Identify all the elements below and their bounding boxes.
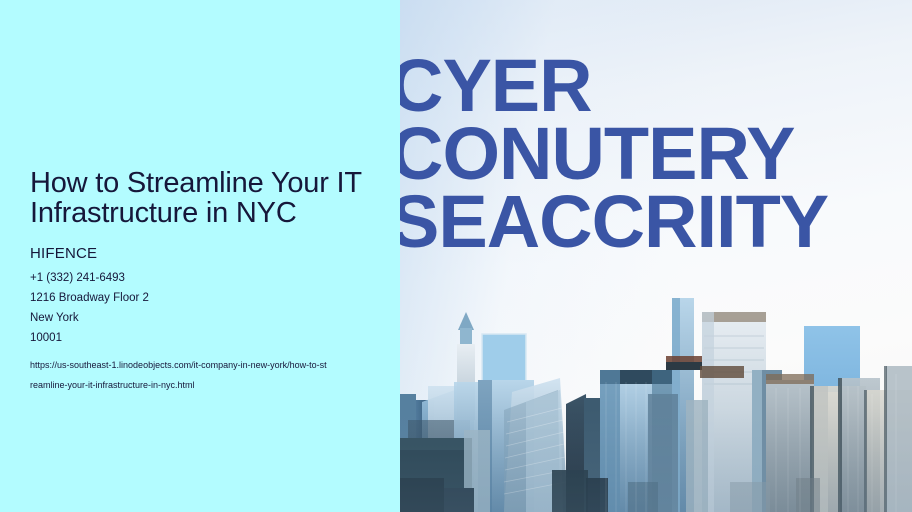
hero-image-panel: CYER CONUTERY SEACCRIITY: [400, 0, 912, 512]
contact-phone: +1 (332) 241-6493: [30, 268, 378, 288]
organization-name: HIFENCE: [30, 243, 378, 265]
article-thumbnail-card: How to Streamline Your IT Infrastructure…: [0, 0, 912, 512]
poster-headline: CYER CONUTERY SEACCRIITY: [400, 52, 912, 256]
source-url-link[interactable]: https://us-southeast-1.linodeobjects.com…: [30, 355, 328, 395]
left-info-panel: How to Streamline Your IT Infrastructure…: [0, 0, 400, 512]
contact-city: New York: [30, 308, 378, 328]
page-title: How to Streamline Your IT Infrastructure…: [30, 168, 375, 229]
poster-headline-line-2: CONUTERY: [400, 120, 912, 188]
left-content-block: How to Streamline Your IT Infrastructure…: [30, 168, 378, 395]
poster-headline-line-3: SEACCRIITY: [400, 188, 912, 256]
poster-headline-line-1: CYER: [400, 52, 912, 120]
contact-street-address: 1216 Broadway Floor 2: [30, 288, 378, 308]
city-skyline-illustration: [400, 282, 912, 512]
contact-postal-code: 10001: [30, 328, 378, 348]
